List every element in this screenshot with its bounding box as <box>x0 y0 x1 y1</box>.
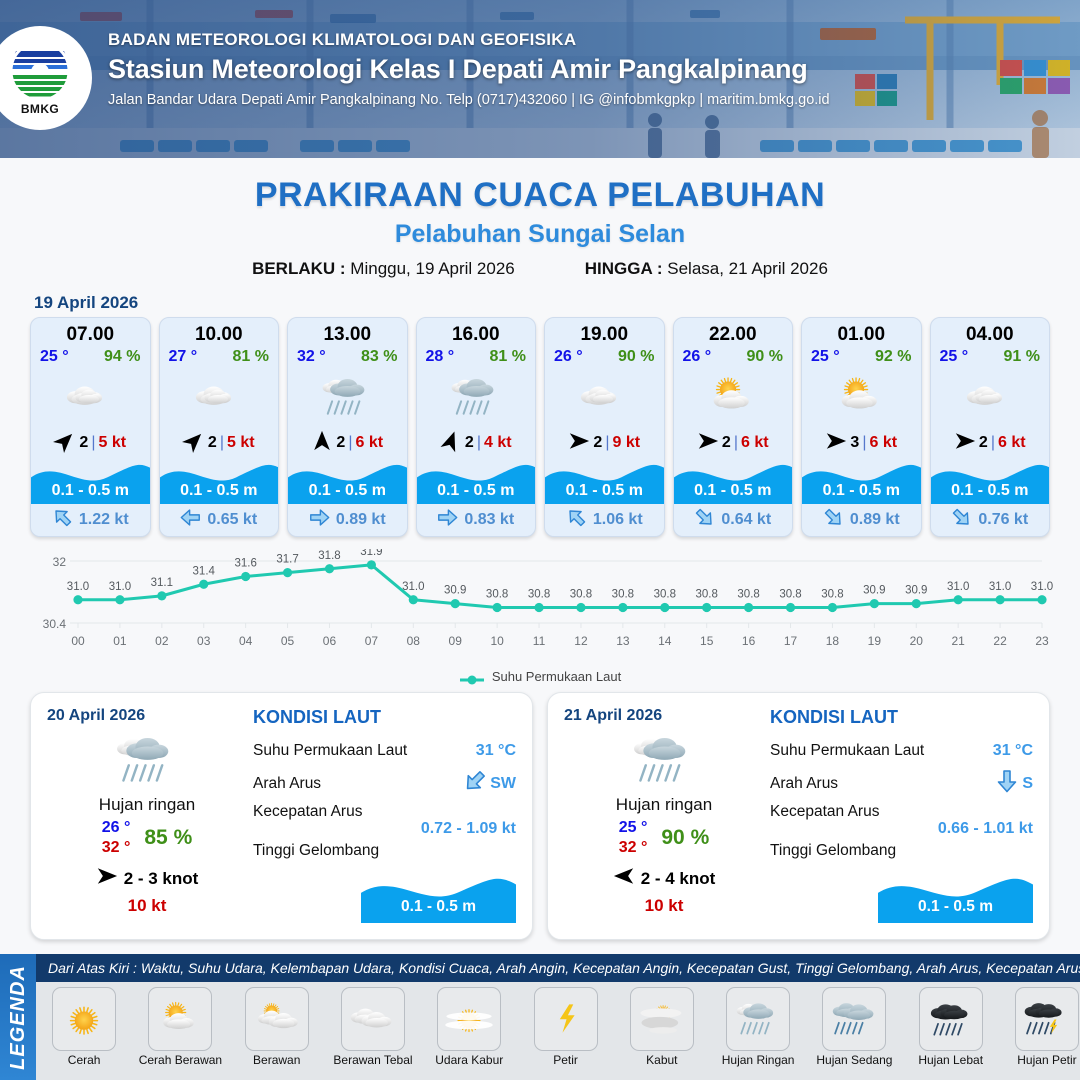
wind-separator: | <box>91 434 95 452</box>
legend-body: Dari Atas Kiri : Waktu, Suhu Udara, Kele… <box>36 954 1080 1080</box>
legend-item: Hujan Ringan <box>716 987 800 1080</box>
weather-berawan-icon <box>31 366 150 428</box>
card-time: 13.00 <box>288 324 407 346</box>
card-time: 22.00 <box>674 324 793 346</box>
wind-separator: | <box>477 434 481 452</box>
card-wind: 2 | 6 kt <box>931 428 1050 458</box>
card-current: 0.83 kt <box>417 504 536 536</box>
weather-berawan-sun-icon <box>245 987 309 1051</box>
svg-text:06: 06 <box>323 634 337 648</box>
legend-side-title: LEGENDA <box>0 954 36 1080</box>
legend-item: Udara Kabur <box>427 987 511 1080</box>
legend-item: Hujan Lebat <box>909 987 993 1080</box>
current-direction-arrow-icon <box>823 507 844 533</box>
wave-height-badge: 0.1 - 0.5 m <box>878 871 1033 923</box>
svg-text:31.9: 31.9 <box>360 549 382 558</box>
legend-item: Petir <box>524 987 608 1080</box>
wind-separator: | <box>862 434 866 452</box>
card-wind-scale: 2 <box>79 434 88 452</box>
svg-text:09: 09 <box>449 634 463 648</box>
svg-text:31.1: 31.1 <box>151 577 173 589</box>
current-speed-label: Kecepatan Arus <box>770 803 879 821</box>
svg-text:20: 20 <box>910 634 924 648</box>
validity-row: BERLAKU : Minggu, 19 April 2026 HINGGA :… <box>0 259 1080 279</box>
chart-legend: Suhu Permukaan Laut <box>0 669 1080 684</box>
chart-legend-marker <box>459 673 485 681</box>
card-temperature: 28 ° <box>426 348 455 366</box>
card-metrics: 28 ° 81 % <box>417 346 536 366</box>
day-summary-panels: 20 April 2026 Hujan ringan 26 ° 32 ° 85 … <box>0 692 1080 940</box>
svg-text:31.0: 31.0 <box>109 581 131 593</box>
card-temperature: 27 ° <box>169 348 198 366</box>
card-wave-height: 0.1 - 0.5 m <box>417 482 536 500</box>
card-humidity: 83 % <box>361 348 397 366</box>
sst-chart: 3230.431.00031.00131.10231.40331.60431.7… <box>26 549 1054 667</box>
contact-line: Jalan Bandar Udara Depati Amir Pangkalpi… <box>108 92 830 108</box>
card-gust: 5 kt <box>227 434 255 452</box>
card-time: 04.00 <box>931 324 1050 346</box>
day-panel-humidity: 85 % <box>144 826 192 850</box>
current-speed-value: 0.66 - 1.01 kt <box>770 820 1033 838</box>
legend-item: Hujan Sedang <box>812 987 896 1080</box>
card-current: 1.22 kt <box>31 504 150 536</box>
svg-text:13: 13 <box>616 634 630 648</box>
valid-from-value: Minggu, 19 April 2026 <box>350 259 514 278</box>
card-current: 0.64 kt <box>674 504 793 536</box>
wind-direction-arrow-icon <box>825 430 847 457</box>
card-current-speed: 0.76 kt <box>978 511 1028 529</box>
weather-berawan-tebal-icon <box>341 987 405 1051</box>
card-gust: 4 kt <box>484 434 512 452</box>
forecast-card: 19.00 26 ° 90 % 2 | 9 kt <box>544 317 665 537</box>
card-time: 19.00 <box>545 324 664 346</box>
legend-item-label: Berawan <box>235 1053 319 1067</box>
svg-text:02: 02 <box>155 634 169 648</box>
card-gust: 6 kt <box>998 434 1026 452</box>
wind-separator: | <box>348 434 352 452</box>
day-panel-temps: 26 ° 32 ° 85 % <box>47 819 247 857</box>
svg-text:15: 15 <box>700 634 714 648</box>
sst-chart-svg: 3230.431.00031.00131.10231.40331.60431.7… <box>26 549 1054 667</box>
svg-text:31.0: 31.0 <box>67 581 89 593</box>
weather-hujan-ringan-icon <box>417 366 536 428</box>
card-wave-block: 0.1 - 0.5 m <box>931 458 1050 504</box>
card-wave-height: 0.1 - 0.5 m <box>931 482 1050 500</box>
wave-height-value: 0.1 - 0.5 m <box>361 898 516 916</box>
current-direction-value: S <box>1022 775 1033 793</box>
legend-item-label: Hujan Ringan <box>716 1053 800 1067</box>
current-direction-arrow-icon <box>694 507 715 533</box>
svg-text:30.8: 30.8 <box>528 589 550 601</box>
weather-hujan-ringan-icon <box>47 727 247 793</box>
current-direction-value-wrap: SW <box>463 769 516 798</box>
wind-direction-arrow-icon <box>954 430 976 457</box>
weather-hujan-petir-icon <box>1015 987 1079 1051</box>
svg-text:30.8: 30.8 <box>737 589 759 601</box>
legend-item-label: Kabut <box>620 1053 704 1067</box>
weather-cerah-berawan-icon <box>674 366 793 428</box>
day-panel-temps: 25 ° 32 ° 90 % <box>564 819 764 857</box>
weather-kabut-icon <box>630 987 694 1051</box>
day-panel-gust: 10 kt <box>47 896 247 916</box>
legend-item-label: Cerah Berawan <box>138 1053 222 1067</box>
card-time: 07.00 <box>31 324 150 346</box>
card-wind-scale: 2 <box>208 434 217 452</box>
sst-row: Suhu Permukaan Laut 31 °C <box>770 734 1033 767</box>
svg-text:31.0: 31.0 <box>1031 581 1053 593</box>
current-direction-label: Arah Arus <box>253 775 321 793</box>
wind-direction-arrow-icon <box>613 865 635 892</box>
card-wind-scale: 2 <box>465 434 474 452</box>
legend-item-label: Udara Kabur <box>427 1053 511 1067</box>
weather-udara-kabur-icon <box>437 987 501 1051</box>
current-direction-arrow-icon <box>951 507 972 533</box>
svg-text:19: 19 <box>868 634 882 648</box>
wind-separator: | <box>991 434 995 452</box>
wave-height-badge: 0.1 - 0.5 m <box>361 871 516 923</box>
card-metrics: 25 ° 91 % <box>931 346 1050 366</box>
card-humidity: 81 % <box>233 348 269 366</box>
sst-value: 31 °C <box>993 742 1033 760</box>
weather-cerah-berawan-icon <box>148 987 212 1051</box>
legend-item: Berawan Tebal <box>331 987 415 1080</box>
card-humidity: 81 % <box>490 348 526 366</box>
card-temperature: 26 ° <box>683 348 712 366</box>
wind-direction-arrow-icon <box>697 430 719 457</box>
forecast-card-row: 07.00 25 ° 94 % 2 | 5 kt <box>0 317 1080 537</box>
card-current: 0.76 kt <box>931 504 1050 536</box>
svg-text:31.4: 31.4 <box>193 565 216 577</box>
current-direction-arrow-icon <box>437 507 458 533</box>
svg-text:30.8: 30.8 <box>821 589 843 601</box>
wind-direction-arrow-icon <box>96 865 118 892</box>
svg-text:30.4: 30.4 <box>43 617 67 631</box>
weather-petir-icon <box>534 987 598 1051</box>
card-current: 0.89 kt <box>802 504 921 536</box>
day-panel-wind-range: 2 - 3 knot <box>124 869 199 889</box>
card-wave-height: 0.1 - 0.5 m <box>674 482 793 500</box>
day-panel-wind: 2 - 3 knot <box>47 865 247 892</box>
card-wave-height: 0.1 - 0.5 m <box>31 482 150 500</box>
wind-direction-arrow-icon <box>54 430 76 457</box>
wind-direction-arrow-icon <box>440 430 462 457</box>
svg-text:05: 05 <box>281 634 295 648</box>
legend-side-text: LEGENDA <box>7 965 30 1070</box>
card-temperature: 25 ° <box>940 348 969 366</box>
card-gust: 6 kt <box>355 434 383 452</box>
card-wind: 2 | 4 kt <box>417 428 536 458</box>
legend-item-label: Cerah <box>42 1053 126 1067</box>
legend-item: Cerah <box>42 987 126 1080</box>
page-title: PRAKIRAAN CUACA PELABUHAN <box>0 176 1080 215</box>
card-time: 01.00 <box>802 324 921 346</box>
svg-text:00: 00 <box>71 634 85 648</box>
legend-item-label: Petir <box>524 1053 608 1067</box>
day-panel-right: KONDISI LAUT Suhu Permukaan Laut 31 °C A… <box>764 707 1033 925</box>
forecast-card: 13.00 32 ° 83 % 2 | 6 kt <box>287 317 408 537</box>
current-direction-arrow-icon <box>180 507 201 533</box>
weather-hujan-ringan-icon <box>564 727 764 793</box>
svg-text:32: 32 <box>53 555 67 569</box>
card-current-speed: 0.65 kt <box>207 511 257 529</box>
card-humidity: 92 % <box>875 348 911 366</box>
card-current-speed: 0.89 kt <box>336 511 386 529</box>
card-current-speed: 0.89 kt <box>850 511 900 529</box>
current-direction-arrow-icon <box>566 507 587 533</box>
card-wave-block: 0.1 - 0.5 m <box>545 458 664 504</box>
card-wave-block: 0.1 - 0.5 m <box>674 458 793 504</box>
wave-height-value: 0.1 - 0.5 m <box>878 898 1033 916</box>
card-current: 0.65 kt <box>160 504 279 536</box>
header-text-block: BADAN METEOROLOGI KLIMATOLOGI DAN GEOFIS… <box>108 30 830 108</box>
day-panel-left: 21 April 2026 Hujan ringan 25 ° 32 ° 90 … <box>564 707 764 925</box>
day-panel-wind-range: 2 - 4 knot <box>641 869 716 889</box>
card-current: 1.06 kt <box>545 504 664 536</box>
current-direction-arrow-icon <box>309 507 330 533</box>
weather-cerah-icon <box>52 987 116 1051</box>
svg-text:22: 22 <box>993 634 1007 648</box>
day-summary-panel: 20 April 2026 Hujan ringan 26 ° 32 ° 85 … <box>30 692 533 940</box>
legend-bar: LEGENDA Dari Atas Kiri : Waktu, Suhu Uda… <box>0 954 1080 1080</box>
legend-item-label: Hujan Petir <box>1005 1053 1080 1067</box>
wind-separator: | <box>734 434 738 452</box>
svg-text:30.9: 30.9 <box>905 585 927 597</box>
legend-item-label: Hujan Sedang <box>812 1053 896 1067</box>
svg-text:12: 12 <box>574 634 588 648</box>
svg-text:30.8: 30.8 <box>612 589 634 601</box>
card-wind: 2 | 6 kt <box>674 428 793 458</box>
day-panel-condition: Hujan ringan <box>47 795 247 815</box>
svg-text:30.8: 30.8 <box>570 589 592 601</box>
current-speed-value: 0.72 - 1.09 kt <box>253 820 516 838</box>
card-metrics: 26 ° 90 % <box>545 346 664 366</box>
svg-text:31.8: 31.8 <box>318 550 340 562</box>
svg-text:07: 07 <box>365 634 379 648</box>
bmkg-logo-label: BMKG <box>4 102 76 116</box>
card-wind: 2 | 9 kt <box>545 428 664 458</box>
forecast-card: 04.00 25 ° 91 % 2 | 6 kt <box>930 317 1051 537</box>
current-direction-label: Arah Arus <box>770 775 838 793</box>
card-metrics: 25 ° 94 % <box>31 346 150 366</box>
current-direction-row: Arah Arus S <box>770 767 1033 800</box>
card-wave-block: 0.1 - 0.5 m <box>417 458 536 504</box>
svg-text:10: 10 <box>490 634 504 648</box>
card-current-speed: 1.06 kt <box>593 511 643 529</box>
day-panel-wind: 2 - 4 knot <box>564 865 764 892</box>
weather-berawan-icon <box>160 366 279 428</box>
day-panel-right: KONDISI LAUT Suhu Permukaan Laut 31 °C A… <box>247 707 516 925</box>
wave-height-row: Tinggi Gelombang <box>253 838 516 864</box>
valid-until-value: Selasa, 21 April 2026 <box>667 259 828 278</box>
legend-item-label: Hujan Lebat <box>909 1053 993 1067</box>
day-panel-condition: Hujan ringan <box>564 795 764 815</box>
day-panel-tmax: 32 ° <box>102 839 131 857</box>
svg-text:31.0: 31.0 <box>989 581 1011 593</box>
day-panel-temp-col: 26 ° 32 ° <box>102 819 131 857</box>
bmkg-logo-icon <box>4 41 76 103</box>
forecast-card: 22.00 26 ° 90 % 2 | 6 kt 0.1 - 0.5 m <box>673 317 794 537</box>
card-wind-scale: 2 <box>979 434 988 452</box>
valid-until-label: HINGGA : <box>585 259 663 278</box>
card-wave-height: 0.1 - 0.5 m <box>288 482 407 500</box>
svg-text:21: 21 <box>951 634 965 648</box>
wind-direction-arrow-icon <box>311 430 333 457</box>
weather-cerah-berawan-icon <box>802 366 921 428</box>
forecast-card: 16.00 28 ° 81 % 2 | 4 kt <box>416 317 537 537</box>
svg-text:18: 18 <box>826 634 840 648</box>
card-gust: 6 kt <box>741 434 769 452</box>
weather-hujan-ringan-icon <box>288 366 407 428</box>
wind-separator: | <box>220 434 224 452</box>
svg-text:30.9: 30.9 <box>444 585 466 597</box>
current-direction-arrow-icon <box>463 769 487 798</box>
wind-direction-arrow-icon <box>568 430 590 457</box>
forecast-card: 10.00 27 ° 81 % 2 | 5 kt <box>159 317 280 537</box>
current-direction-value-wrap: S <box>995 769 1033 798</box>
forecast-date-label: 19 April 2026 <box>34 293 1080 313</box>
card-time: 10.00 <box>160 324 279 346</box>
card-metrics: 27 ° 81 % <box>160 346 279 366</box>
card-humidity: 90 % <box>618 348 654 366</box>
card-gust: 6 kt <box>869 434 897 452</box>
card-wave-height: 0.1 - 0.5 m <box>802 482 921 500</box>
legend-item: Kabut <box>620 987 704 1080</box>
card-wave-block: 0.1 - 0.5 m <box>160 458 279 504</box>
svg-text:30.9: 30.9 <box>863 585 885 597</box>
wave-height-row: Tinggi Gelombang <box>770 838 1033 864</box>
day-panel-temp-col: 25 ° 32 ° <box>619 819 648 857</box>
card-wave-block: 0.1 - 0.5 m <box>31 458 150 504</box>
card-wind: 2 | 6 kt <box>288 428 407 458</box>
svg-text:03: 03 <box>197 634 211 648</box>
svg-text:30.8: 30.8 <box>779 589 801 601</box>
card-wave-height: 0.1 - 0.5 m <box>160 482 279 500</box>
card-wave-block: 0.1 - 0.5 m <box>288 458 407 504</box>
current-speed-label: Kecepatan Arus <box>253 803 362 821</box>
forecast-card: 07.00 25 ° 94 % 2 | 5 kt <box>30 317 151 537</box>
agency-name: BADAN METEOROLOGI KLIMATOLOGI DAN GEOFIS… <box>108 30 830 50</box>
legend-item-row: Cerah Cerah Berawan Berawan <box>36 982 1080 1080</box>
legend-item: Cerah Berawan <box>138 987 222 1080</box>
card-wind: 3 | 6 kt <box>802 428 921 458</box>
svg-text:31.7: 31.7 <box>276 554 298 566</box>
card-current-speed: 1.22 kt <box>79 511 129 529</box>
day-panel-tmin: 26 ° <box>102 819 131 837</box>
svg-text:04: 04 <box>239 634 253 648</box>
station-name: Stasiun Meteorologi Kelas I Depati Amir … <box>108 54 830 85</box>
sst-label: Suhu Permukaan Laut <box>770 742 924 760</box>
wind-direction-arrow-icon <box>183 430 205 457</box>
sst-row: Suhu Permukaan Laut 31 °C <box>253 734 516 767</box>
svg-text:23: 23 <box>1035 634 1049 648</box>
svg-text:11: 11 <box>533 634 546 648</box>
legend-item: Berawan <box>235 987 319 1080</box>
page-subtitle: Pelabuhan Sungai Selan <box>0 220 1080 249</box>
day-summary-panel: 21 April 2026 Hujan ringan 25 ° 32 ° 90 … <box>547 692 1050 940</box>
chart-legend-label: Suhu Permukaan Laut <box>492 669 621 684</box>
card-wind-scale: 3 <box>850 434 859 452</box>
card-wind: 2 | 5 kt <box>31 428 150 458</box>
card-time: 16.00 <box>417 324 536 346</box>
wave-height-label: Tinggi Gelombang <box>253 842 379 860</box>
current-direction-arrow-icon <box>52 507 73 533</box>
svg-text:16: 16 <box>742 634 756 648</box>
svg-text:30.8: 30.8 <box>696 589 718 601</box>
sea-conditions-title: KONDISI LAUT <box>253 707 516 728</box>
svg-text:30.8: 30.8 <box>654 589 676 601</box>
weather-berawan-icon <box>545 366 664 428</box>
svg-text:01: 01 <box>113 634 127 648</box>
day-panel-tmax: 32 ° <box>619 839 648 857</box>
svg-text:17: 17 <box>784 634 798 648</box>
day-panel-humidity: 90 % <box>661 826 709 850</box>
card-humidity: 91 % <box>1004 348 1040 366</box>
forecast-card: 01.00 25 ° 92 % 3 | 6 kt 0.1 - 0.5 m <box>801 317 922 537</box>
card-metrics: 32 ° 83 % <box>288 346 407 366</box>
card-gust: 9 kt <box>612 434 640 452</box>
svg-text:31.0: 31.0 <box>402 581 424 593</box>
sst-label: Suhu Permukaan Laut <box>253 742 407 760</box>
wind-separator: | <box>605 434 609 452</box>
card-current-speed: 0.83 kt <box>464 511 514 529</box>
card-metrics: 26 ° 90 % <box>674 346 793 366</box>
svg-text:31.0: 31.0 <box>947 581 969 593</box>
valid-from: BERLAKU : Minggu, 19 April 2026 <box>252 259 515 279</box>
card-wind-scale: 2 <box>593 434 602 452</box>
card-current-speed: 0.64 kt <box>721 511 771 529</box>
card-wave-block: 0.1 - 0.5 m <box>802 458 921 504</box>
card-metrics: 25 ° 92 % <box>802 346 921 366</box>
legend-note: Dari Atas Kiri : Waktu, Suhu Udara, Kele… <box>36 954 1080 982</box>
wave-height-label: Tinggi Gelombang <box>770 842 896 860</box>
valid-until: HINGGA : Selasa, 21 April 2026 <box>585 259 828 279</box>
legend-item: Hujan Petir <box>1005 987 1080 1080</box>
weather-hujan-ringan-icon <box>726 987 790 1051</box>
card-temperature: 25 ° <box>40 348 69 366</box>
card-wind-scale: 2 <box>722 434 731 452</box>
card-humidity: 90 % <box>747 348 783 366</box>
sea-conditions-title: KONDISI LAUT <box>770 707 1033 728</box>
svg-text:30.8: 30.8 <box>486 589 508 601</box>
card-temperature: 32 ° <box>297 348 326 366</box>
valid-from-label: BERLAKU : <box>252 259 346 278</box>
card-humidity: 94 % <box>104 348 140 366</box>
card-wind: 2 | 5 kt <box>160 428 279 458</box>
day-panel-gust: 10 kt <box>564 896 764 916</box>
card-gust: 5 kt <box>98 434 126 452</box>
card-temperature: 26 ° <box>554 348 583 366</box>
current-direction-row: Arah Arus SW <box>253 767 516 800</box>
svg-text:08: 08 <box>407 634 421 648</box>
legend-item-label: Berawan Tebal <box>331 1053 415 1067</box>
weather-berawan-icon <box>931 366 1050 428</box>
svg-text:31.6: 31.6 <box>234 558 256 570</box>
day-panel-tmin: 25 ° <box>619 819 648 837</box>
card-current: 0.89 kt <box>288 504 407 536</box>
current-direction-value: SW <box>490 775 516 793</box>
svg-text:14: 14 <box>658 634 672 648</box>
weather-hujan-sedang-icon <box>822 987 886 1051</box>
current-direction-arrow-icon <box>995 769 1019 798</box>
sst-value: 31 °C <box>476 742 516 760</box>
card-wind-scale: 2 <box>336 434 345 452</box>
weather-hujan-lebat-icon <box>919 987 983 1051</box>
card-temperature: 25 ° <box>811 348 840 366</box>
day-panel-left: 20 April 2026 Hujan ringan 26 ° 32 ° 85 … <box>47 707 247 925</box>
card-wave-height: 0.1 - 0.5 m <box>545 482 664 500</box>
page-header: BMKG BADAN METEOROLOGI KLIMATOLOGI DAN G… <box>0 0 1080 158</box>
